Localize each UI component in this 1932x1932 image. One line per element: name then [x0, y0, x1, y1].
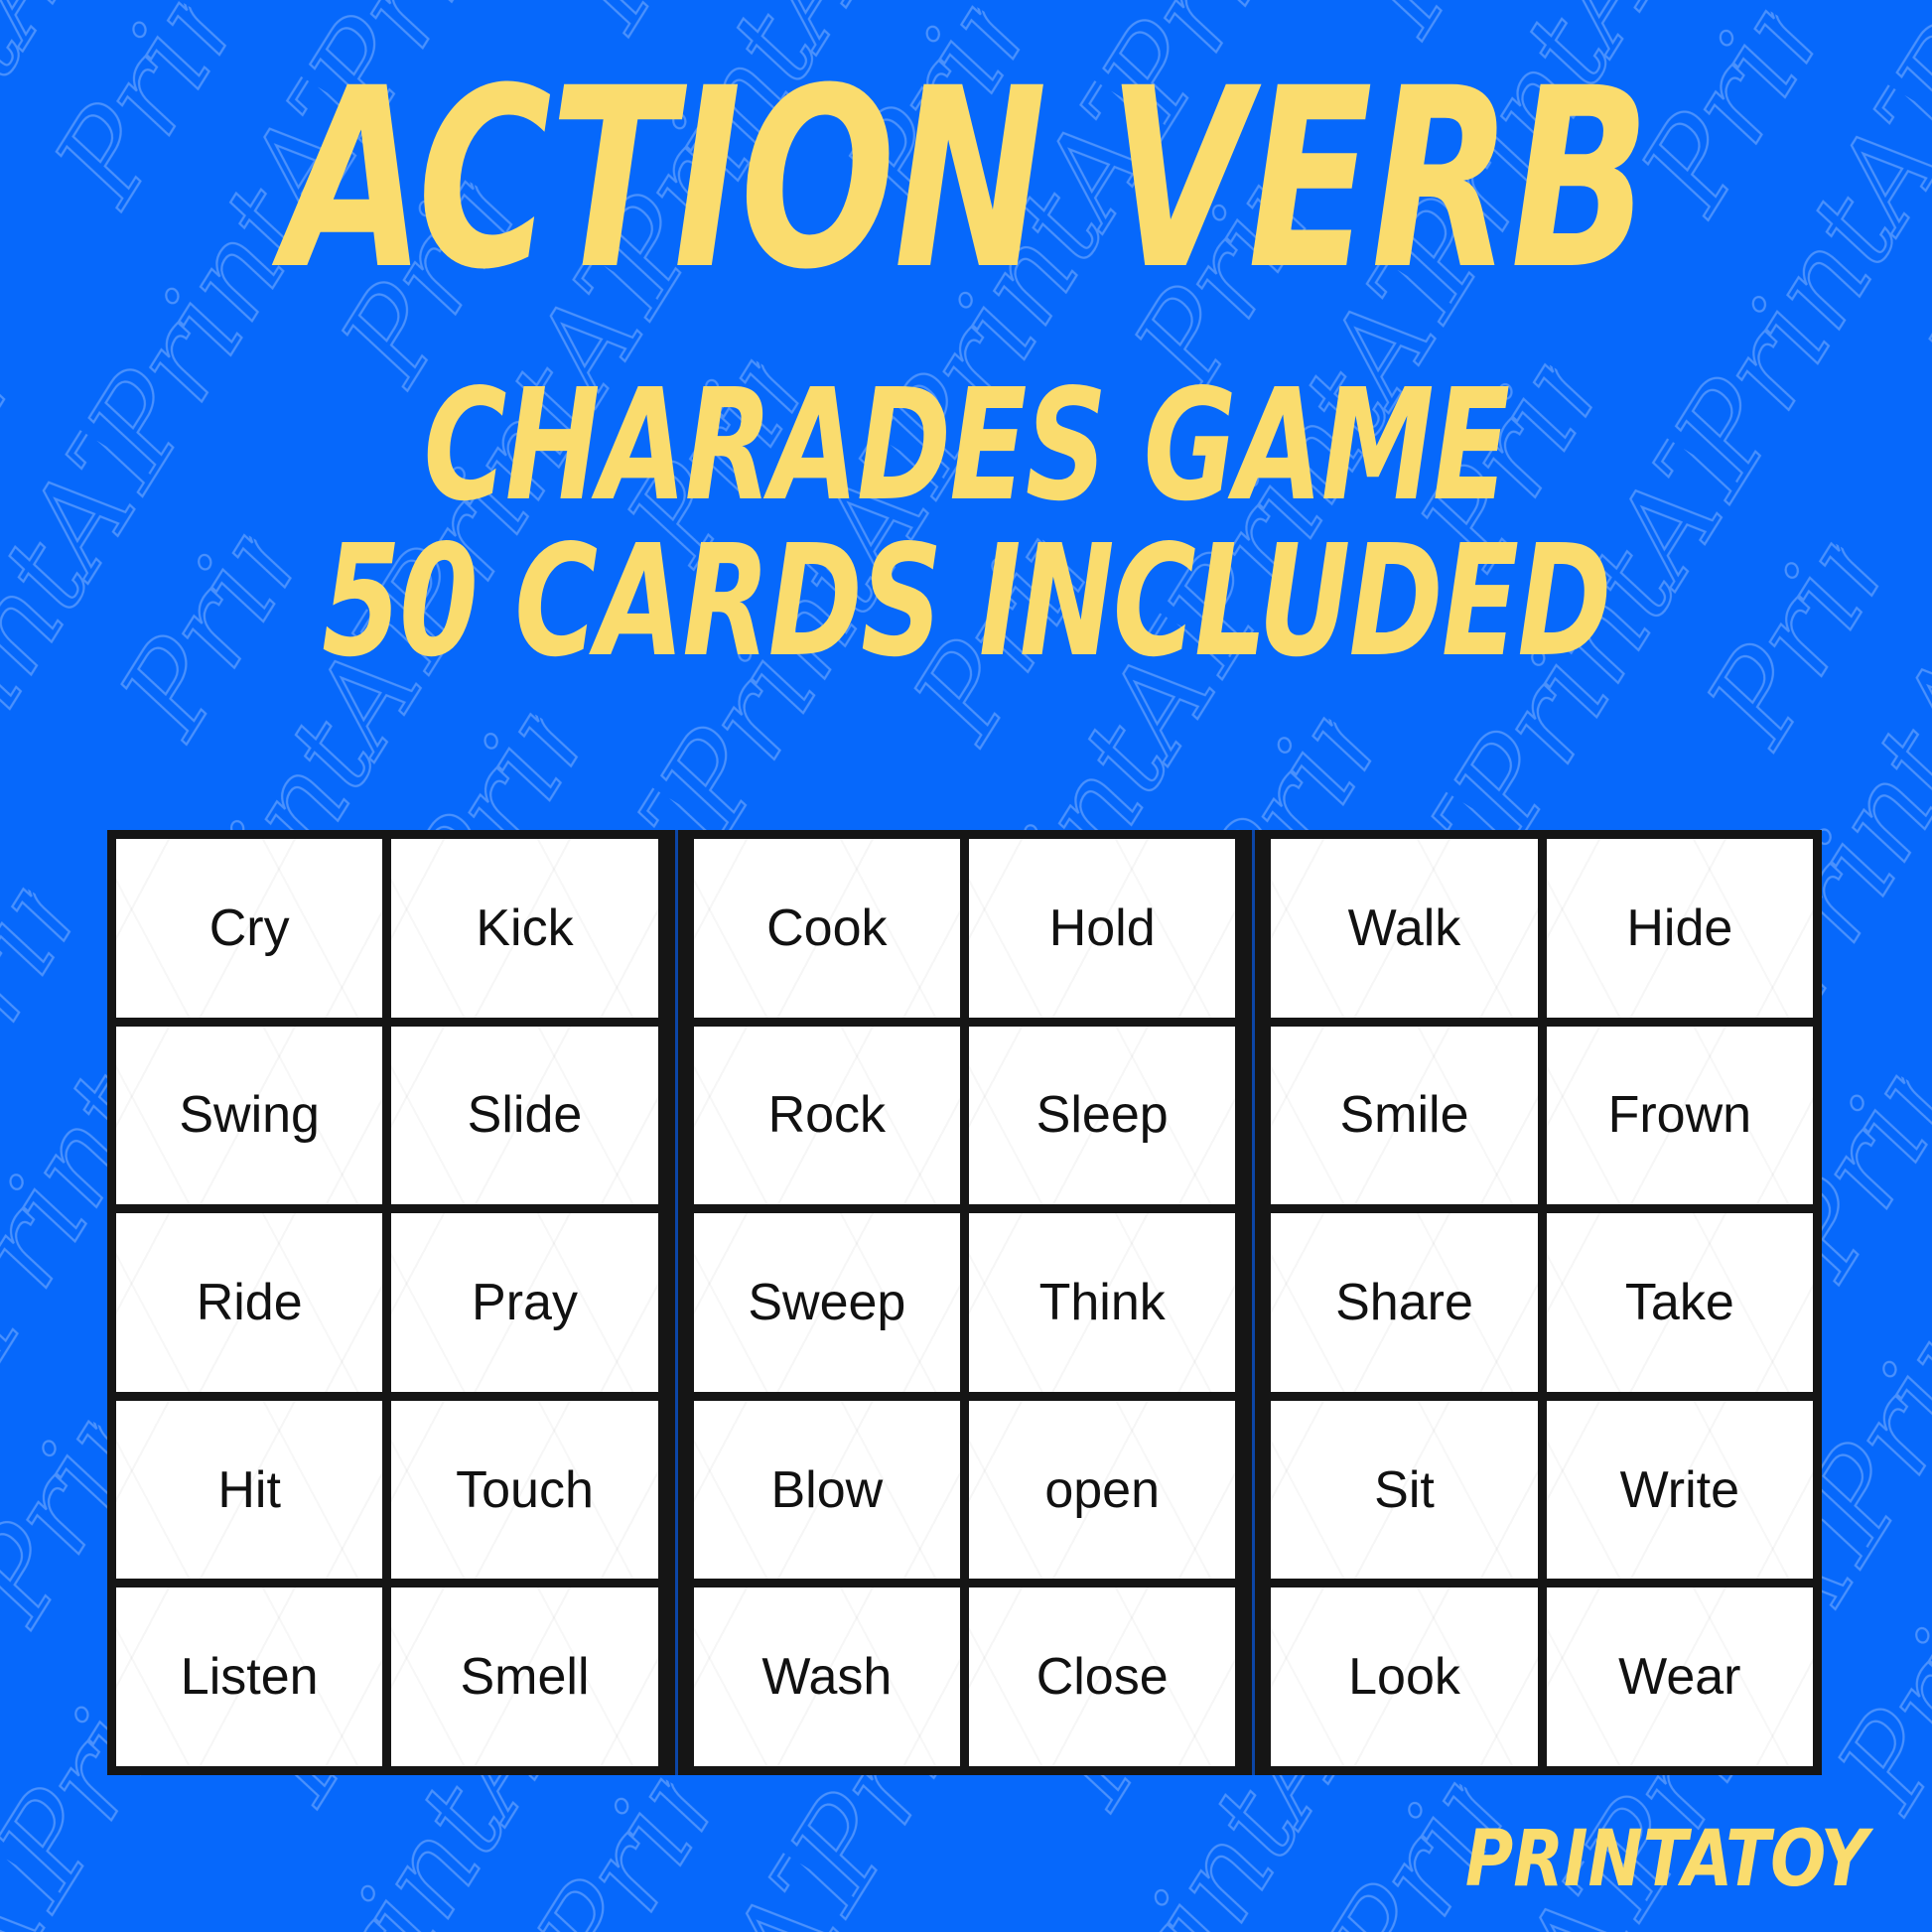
charade-card-label: Smile — [1339, 1089, 1468, 1141]
charade-card-label: Pray — [472, 1277, 578, 1328]
charade-card[interactable]: open — [969, 1401, 1235, 1580]
sheet-seam — [1244, 839, 1262, 1766]
charade-card[interactable]: Write — [1547, 1401, 1813, 1580]
charade-card[interactable]: Sweep — [694, 1213, 960, 1392]
charade-card[interactable]: Hide — [1547, 839, 1813, 1018]
charade-card[interactable]: Walk — [1271, 839, 1537, 1018]
charade-card[interactable]: Hit — [116, 1401, 382, 1580]
charade-card-label: Walk — [1348, 902, 1461, 954]
charade-card[interactable]: Wear — [1547, 1587, 1813, 1766]
charade-card-label: Blow — [770, 1464, 883, 1516]
subtitle-block: CHARADES GAME 50 CARDS INCLUDED — [0, 375, 1932, 672]
charade-card[interactable]: Sleep — [969, 1027, 1235, 1205]
poster-canvas: ACTION VERB CHARADES GAME 50 CARDS INCLU… — [0, 0, 1932, 1932]
charade-card[interactable]: Smile — [1271, 1027, 1537, 1205]
charade-card[interactable]: Close — [969, 1587, 1235, 1766]
charade-card[interactable]: Cook — [694, 839, 960, 1018]
charade-card[interactable]: Touch — [391, 1401, 657, 1580]
charade-card-label: Sleep — [1036, 1089, 1169, 1141]
page-title: ACTION VERB — [174, 66, 1758, 294]
charade-card-label: Write — [1620, 1464, 1739, 1516]
charade-card-label: Ride — [197, 1277, 303, 1328]
charade-card-label: Look — [1348, 1651, 1460, 1703]
charade-card-label: Cook — [766, 902, 887, 954]
charade-card-label: Smell — [460, 1651, 589, 1703]
charade-card[interactable]: Pray — [391, 1213, 657, 1392]
charade-card[interactable]: Listen — [116, 1587, 382, 1766]
charade-card[interactable]: Think — [969, 1213, 1235, 1392]
charade-card-label: Think — [1039, 1277, 1166, 1328]
charade-card-label: Hit — [217, 1464, 281, 1516]
charade-card[interactable]: Ride — [116, 1213, 382, 1392]
charade-card-label: Take — [1625, 1277, 1734, 1328]
charade-card-label: open — [1044, 1464, 1160, 1516]
charade-card[interactable]: Blow — [694, 1401, 960, 1580]
charades-card-grid: CryKickCookHoldWalkHideSwingSlideRockSle… — [107, 830, 1822, 1775]
charade-card-label: Cry — [209, 902, 290, 954]
charade-card[interactable]: Look — [1271, 1587, 1537, 1766]
charade-card[interactable]: Share — [1271, 1213, 1537, 1392]
charade-card[interactable]: Smell — [391, 1587, 657, 1766]
charade-card-label: Wear — [1618, 1651, 1740, 1703]
charade-card[interactable]: Slide — [391, 1027, 657, 1205]
charade-card-label: Frown — [1608, 1089, 1751, 1141]
charade-card[interactable]: Wash — [694, 1587, 960, 1766]
charade-card[interactable]: Sit — [1271, 1401, 1537, 1580]
charade-card[interactable]: Hold — [969, 839, 1235, 1018]
charade-card-label: Share — [1335, 1277, 1473, 1328]
charade-card-label: Sit — [1374, 1464, 1435, 1516]
charade-card[interactable]: Cry — [116, 839, 382, 1018]
charade-card[interactable]: Swing — [116, 1027, 382, 1205]
subtitle-line-1: CHARADES GAME — [174, 375, 1758, 517]
heading-block: ACTION VERB — [0, 66, 1932, 294]
charade-card[interactable]: Kick — [391, 839, 657, 1018]
charade-card-label: Hold — [1049, 902, 1156, 954]
charade-card-label: Touch — [456, 1464, 594, 1516]
charade-card-label: Listen — [181, 1651, 319, 1703]
charade-card-label: Slide — [468, 1089, 583, 1141]
charade-card[interactable]: Rock — [694, 1027, 960, 1205]
brand-logo: PRINTATOY — [1465, 1821, 1868, 1898]
charade-card-label: Wash — [761, 1651, 892, 1703]
subtitle-line-2: 50 CARDS INCLUDED — [174, 531, 1758, 673]
charade-card-label: Hide — [1626, 902, 1732, 954]
charade-card[interactable]: Take — [1547, 1213, 1813, 1392]
charade-card-label: Kick — [476, 902, 573, 954]
charade-card-label: Sweep — [748, 1277, 905, 1328]
charade-card[interactable]: Frown — [1547, 1027, 1813, 1205]
charade-card-label: Rock — [768, 1089, 886, 1141]
sheet-seam — [667, 839, 685, 1766]
charade-card-label: Close — [1036, 1651, 1169, 1703]
charade-card-label: Swing — [179, 1089, 320, 1141]
